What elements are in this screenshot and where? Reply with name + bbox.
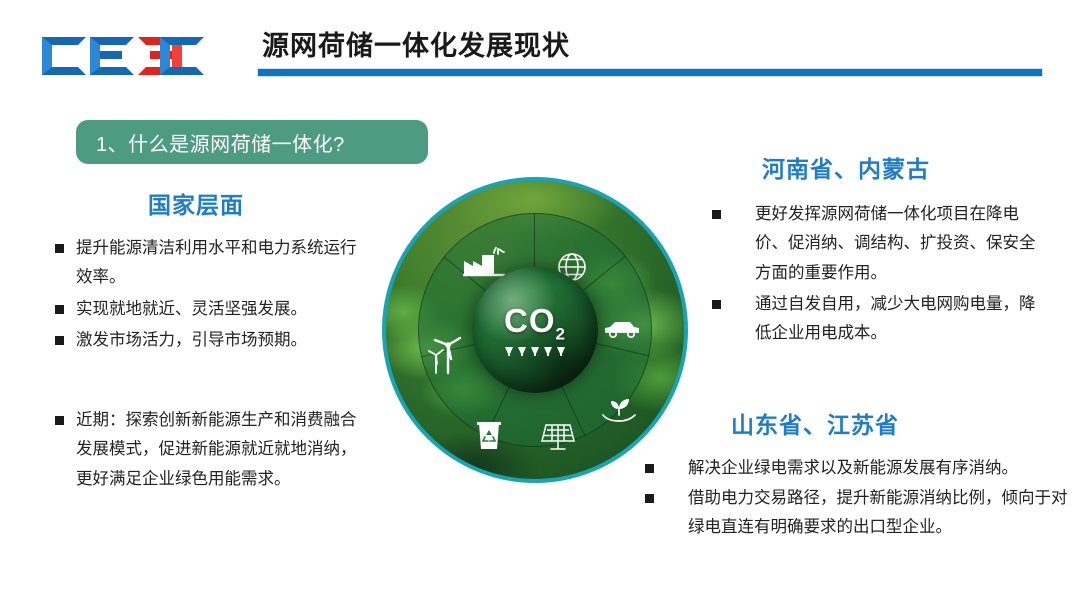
heading-henan-inner-mongolia: 河南省、内蒙古: [762, 150, 930, 184]
bullet-square-icon: [55, 416, 64, 425]
list-item: 激发市场活力，引导市场预期。: [55, 326, 371, 355]
page-title: 源网荷储一体化发展现状: [262, 24, 570, 63]
bullet-square-icon: [645, 464, 654, 473]
bullet-text: 更好发挥源网荷储一体化项目在降电价、促消纳、调结构、扩投资、保安全方面的重要作用…: [755, 200, 1042, 288]
section-pill: 1、什么是源网荷储一体化?: [76, 120, 428, 164]
bullet-list-henan: 更好发挥源网荷储一体化项目在降电价、促消纳、调结构、扩投资、保安全方面的重要作用…: [712, 200, 1042, 351]
bullet-text: 通过自发自用，减少大电网购电量，降低企业用电成本。: [755, 290, 1042, 349]
co2-label: CO2: [504, 304, 566, 343]
heading-shandong-jiangsu: 山东省、江苏省: [731, 406, 899, 440]
bullet-text: 提升能源清洁利用水平和电力系统运行效率。: [76, 234, 371, 293]
list-item: 近期：探索创新新能源生产和消费融合发展模式，促进新能源就近就地消纳，更好满足企业…: [55, 406, 371, 494]
list-item: 解决企业绿电需求以及新能源发展有序消纳。: [645, 454, 1075, 482]
section-pill-label: 1、什么是源网荷储一体化?: [76, 128, 345, 157]
bullet-text: 近期：探索创新新能源生产和消费融合发展模式，促进新能源就近就地消纳，更好满足企业…: [76, 406, 371, 494]
recycle-bin-icon: [474, 417, 504, 451]
bullet-text: 实现就地就近、灵活坚强发展。: [76, 295, 307, 324]
heading-national-level: 国家层面: [148, 186, 244, 220]
ceec-logo: [38, 27, 208, 85]
electric-car-icon: [602, 317, 642, 339]
list-item: 实现就地就近、灵活坚强发展。: [55, 295, 371, 324]
bullet-text: 借助电力交易路径，提升新能源消纳比例，倾向于对绿电直连有明确要求的出口型企业。: [688, 484, 1075, 541]
wind-turbine-icon: [426, 331, 466, 375]
bullet-square-icon: [55, 305, 64, 314]
down-arrows-icon: [505, 347, 565, 356]
list-item: 更好发挥源网荷储一体化项目在降电价、促消纳、调结构、扩投资、保安全方面的重要作用…: [712, 200, 1042, 288]
slide-root: 源网荷储一体化发展现状 1、什么是源网荷储一体化? 国家层面 提升能源清洁利用水…: [0, 0, 1080, 608]
list-item: 借助电力交易路径，提升新能源消纳比例，倾向于对绿电直连有明确要求的出口型企业。: [645, 484, 1075, 541]
solar-panel-icon: [538, 421, 578, 453]
list-item: 通过自发自用，减少大电网购电量，降低企业用电成本。: [712, 290, 1042, 349]
bullet-square-icon: [712, 300, 721, 309]
bullet-text: 解决企业绿电需求以及新能源发展有序消纳。: [688, 454, 1018, 482]
bullet-text: 激发市场活力，引导市场预期。: [76, 326, 307, 355]
plant-in-hand-icon: [600, 391, 638, 423]
bullet-list-shandong: 解决企业绿电需求以及新能源发展有序消纳。 借助电力交易路径，提升新能源消纳比例，…: [645, 454, 1075, 543]
bullet-square-icon: [55, 336, 64, 345]
co2-globe: CO2: [472, 267, 598, 393]
bullet-square-icon: [55, 244, 64, 253]
bullet-list-national-nearterm: 近期：探索创新新能源生产和消费融合发展模式，促进新能源就近就地消纳，更好满足企业…: [55, 406, 371, 496]
title-underline-rule: [257, 68, 1043, 77]
carbon-neutral-illustration: CO2: [382, 177, 688, 483]
bullet-square-icon: [645, 494, 654, 503]
factory-icon: [462, 247, 506, 277]
bullet-list-national: 提升能源清洁利用水平和电力系统运行效率。 实现就地就近、灵活坚强发展。 激发市场…: [55, 234, 371, 357]
bullet-square-icon: [712, 210, 721, 219]
list-item: 提升能源清洁利用水平和电力系统运行效率。: [55, 234, 371, 293]
